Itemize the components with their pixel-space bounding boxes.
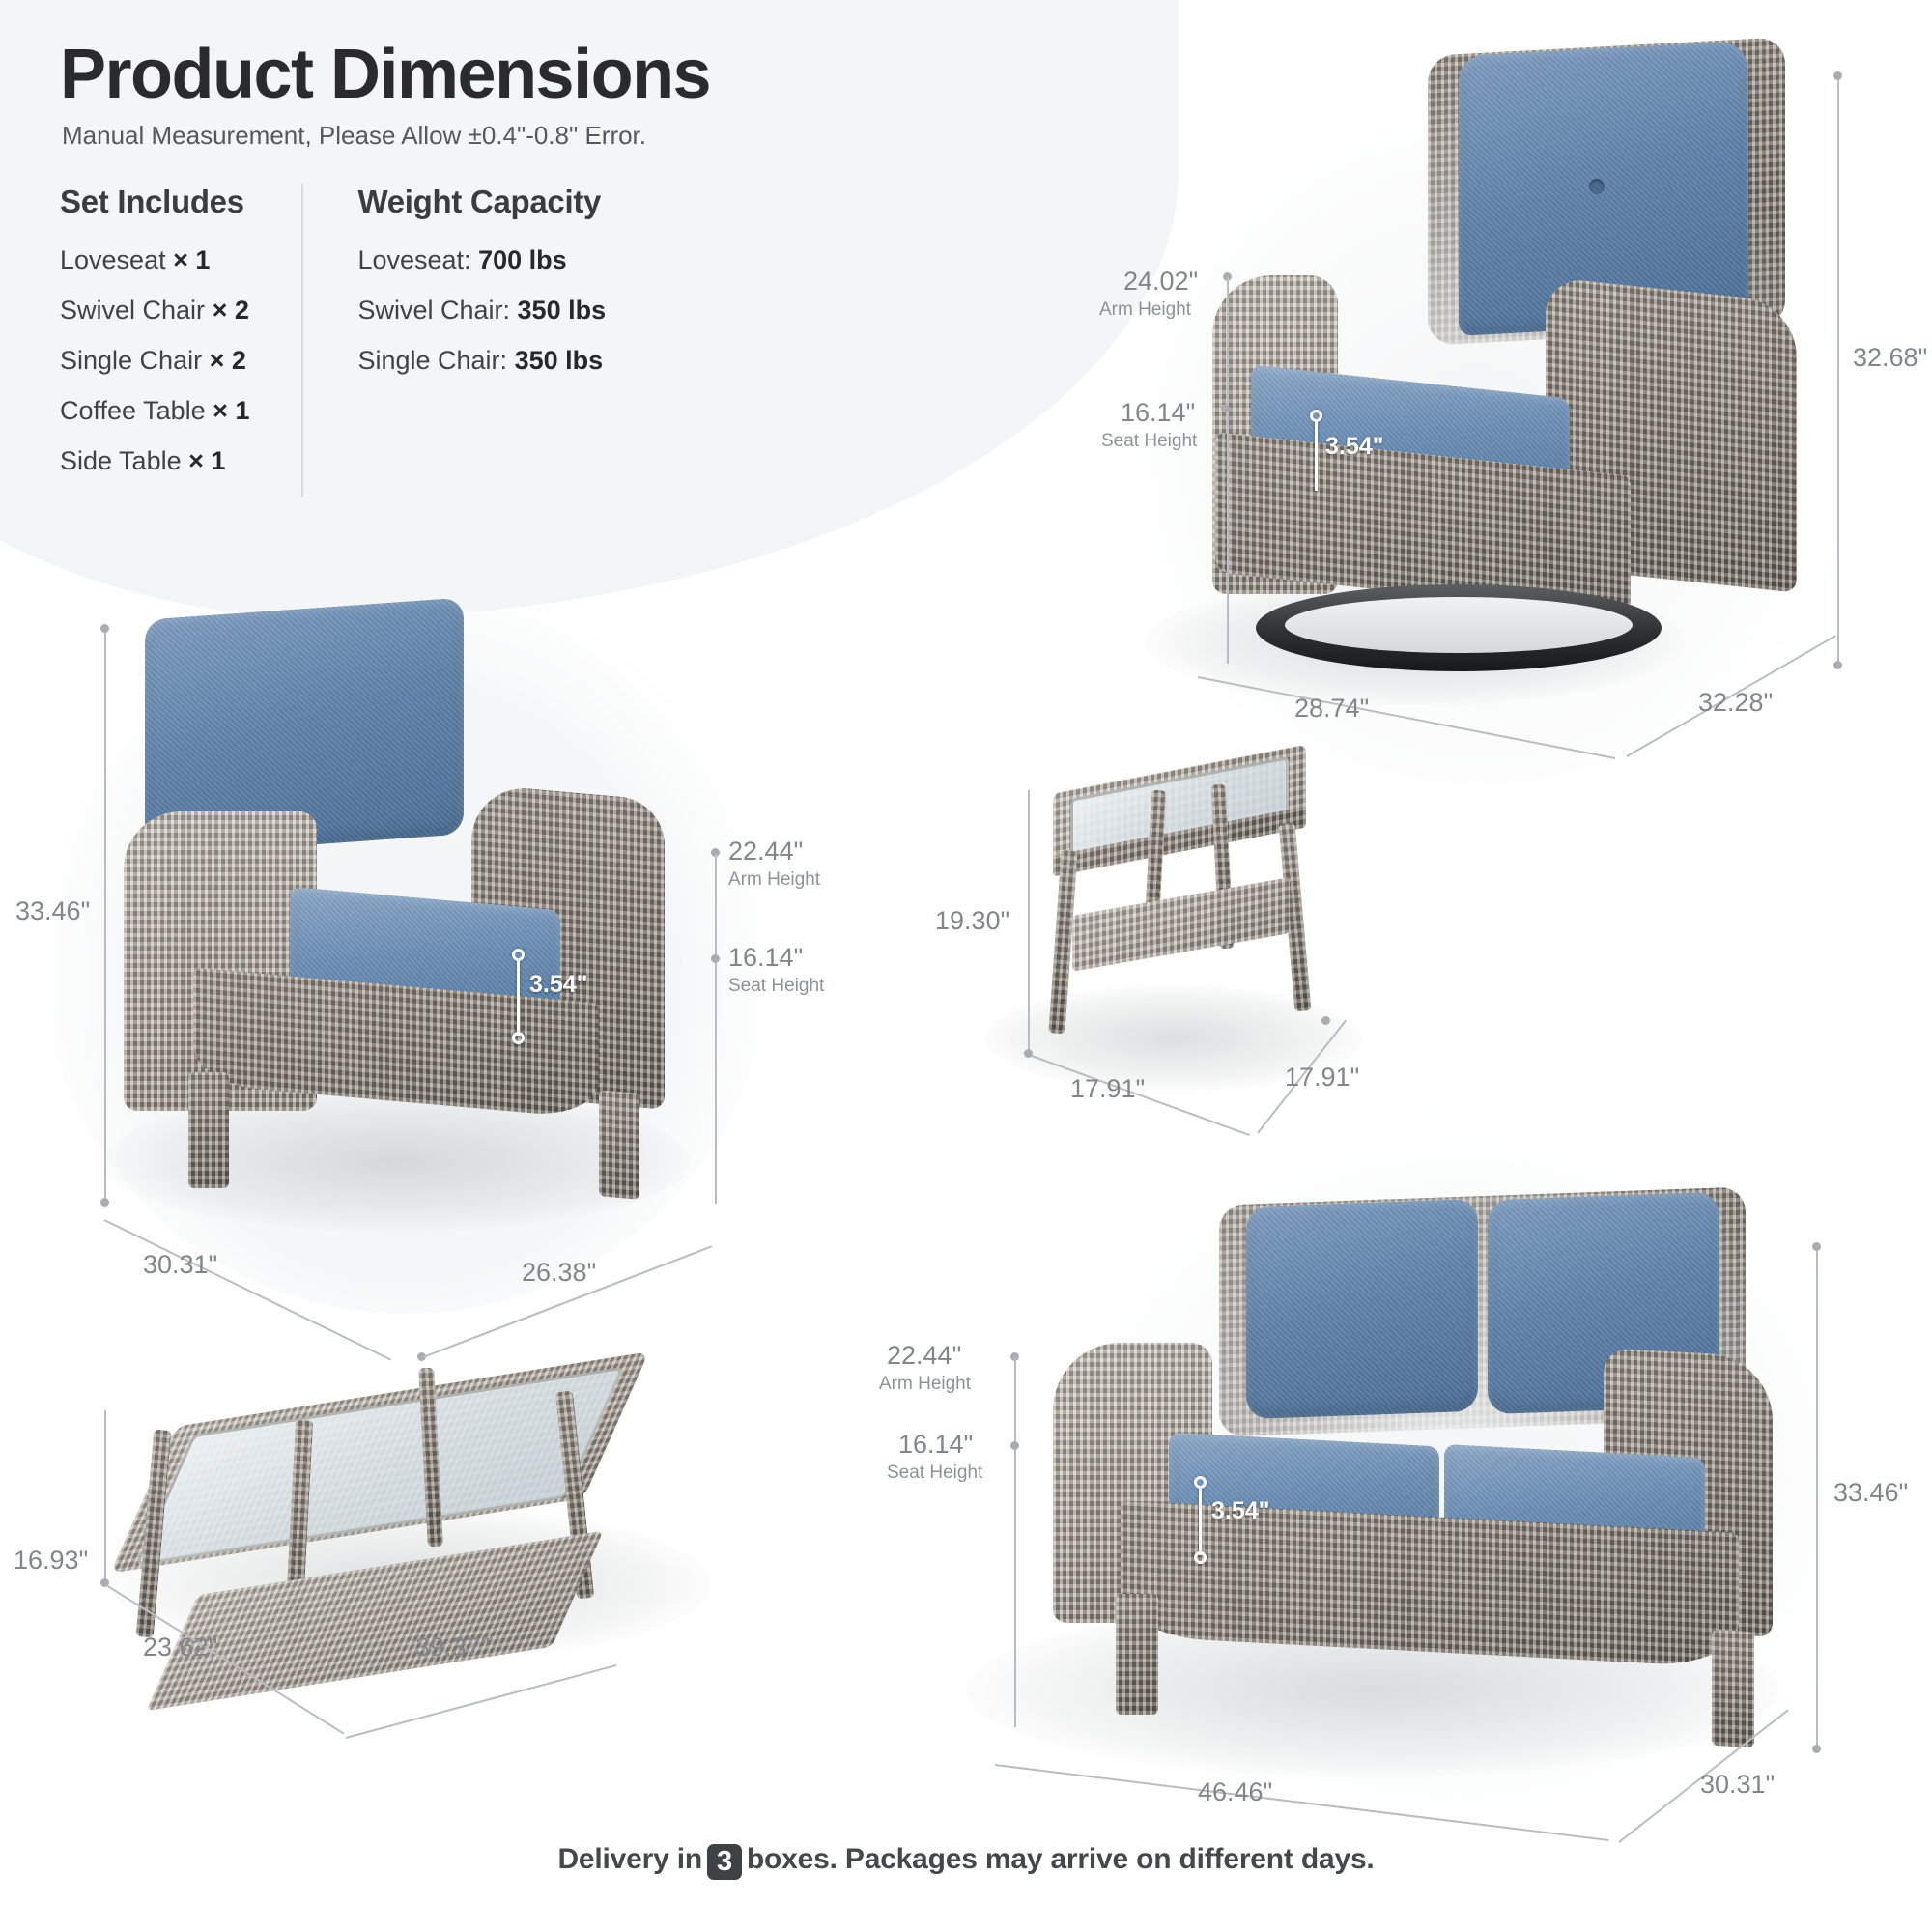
capacity-item-value: 350 lbs: [515, 346, 604, 375]
single-cushion-cap-bottom: [512, 1032, 525, 1044]
set-item-sep: ×: [213, 396, 228, 425]
swivel-cushion-line: [1315, 421, 1318, 491]
list-item: Swivel Chair × 2: [60, 296, 249, 326]
swivel-seat-height-dot: [1221, 404, 1230, 412]
weight-capacity-heading: Weight Capacity: [357, 184, 606, 220]
single-overall-height-dot-bottom: [100, 1198, 109, 1207]
set-item-sep: ×: [213, 296, 228, 325]
single-front-right-leg: [599, 1090, 639, 1200]
single-seat-height-dot: [711, 954, 720, 963]
list-item: Single Chair × 2: [60, 346, 249, 376]
set-item-name: Coffee Table: [60, 396, 206, 425]
side-table-width-value: 17.91": [1070, 1074, 1145, 1104]
single-cushion-line: [517, 960, 520, 1036]
single-overall-height-value: 33.46": [15, 896, 90, 926]
single-cushion-thickness: 3.54": [529, 971, 588, 999]
side-table-corner-dot: [1321, 1016, 1330, 1025]
coffee-table-height-value: 16.93": [14, 1546, 88, 1576]
capacity-item-name: Loveseat:: [357, 245, 470, 274]
single-arm-height-line: [715, 854, 717, 1204]
loveseat-overall-height-line: [1816, 1246, 1818, 1748]
set-item-sep: ×: [210, 346, 225, 375]
loveseat-front-left-leg: [1116, 1594, 1158, 1715]
swivel-overall-height-line: [1837, 75, 1839, 665]
list-item: Side Table × 1: [60, 446, 249, 476]
single-seat-height-label: Seat Height: [728, 976, 824, 997]
single-width-value: 26.38": [522, 1258, 596, 1288]
set-includes-column: Set Includes Loveseat × 1 Swivel Chair ×…: [60, 184, 301, 497]
swivel-cushion-tuft: [1589, 179, 1605, 194]
coffee-table-depth-value: 23.62": [143, 1633, 217, 1662]
page-title: Product Dimensions: [60, 35, 710, 114]
loveseat-back-cushion-left: [1246, 1199, 1478, 1419]
list-item: Swivel Chair: 350 lbs: [357, 296, 606, 326]
side-table-height-value: 19.30": [935, 906, 1009, 936]
set-item-qty: 1: [211, 446, 225, 475]
delivery-prefix: Delivery in: [557, 1843, 702, 1875]
swivel-arm-height-label: Arm Height: [1099, 299, 1191, 321]
single-depth-line: [104, 1219, 391, 1360]
capacity-item-name: Single Chair:: [357, 346, 507, 375]
list-item: Coffee Table × 1: [60, 396, 249, 426]
set-item-sep: ×: [188, 446, 204, 475]
loveseat-cushion-cap-bottom: [1194, 1551, 1207, 1564]
single-seat-height-value: 16.14": [728, 943, 803, 973]
loveseat-seat-height-label: Seat Height: [887, 1463, 982, 1484]
loveseat-arm-height-value: 22.44": [887, 1341, 961, 1371]
capacity-item-name: Swivel Chair:: [357, 296, 510, 325]
single-overall-height-line: [104, 628, 106, 1203]
swivel-cushion-thickness: 3.54": [1325, 433, 1384, 461]
side-table-height-line: [1028, 790, 1030, 1053]
set-includes-heading: Set Includes: [60, 184, 249, 220]
list-item: Loveseat × 1: [60, 245, 249, 275]
swivel-depth-value: 32.28": [1698, 688, 1773, 718]
delivery-box-count-badge: 3: [707, 1844, 742, 1880]
set-item-name: Swivel Chair: [60, 296, 205, 325]
list-item: Loveseat: 700 lbs: [357, 245, 606, 275]
loveseat-front-right-leg: [1712, 1630, 1754, 1747]
set-item-qty: 1: [235, 396, 249, 425]
delivery-note: Delivery in3boxes. Packages may arrive o…: [0, 1843, 1932, 1880]
page-subtitle: Manual Measurement, Please Allow ±0.4"-0…: [62, 121, 646, 151]
loveseat-arm-height-line: [1014, 1358, 1016, 1727]
side-table-depth-value: 17.91": [1285, 1063, 1359, 1093]
set-item-qty: 2: [232, 346, 246, 375]
swivel-overall-height-value: 32.68": [1853, 343, 1927, 373]
single-front-left-leg: [188, 1072, 229, 1188]
single-arm-height-label: Arm Height: [728, 869, 820, 891]
capacity-item-value: 700 lbs: [478, 245, 567, 274]
swivel-seat-height-label: Seat Height: [1101, 431, 1197, 452]
loveseat-seat-height-value: 16.14": [898, 1430, 973, 1460]
loveseat-depth-value: 30.31": [1700, 1770, 1775, 1800]
capacity-item-value: 350 lbs: [518, 296, 607, 325]
loveseat-cushion-thickness: 3.54": [1211, 1497, 1270, 1525]
delivery-suffix: boxes. Packages may arrive on different …: [747, 1843, 1375, 1875]
set-item-name: Single Chair: [60, 346, 202, 375]
coffee-table-width-line: [346, 1664, 617, 1739]
side-table-lower-shelf: [1072, 877, 1290, 972]
loveseat-overall-height-value: 33.46": [1833, 1478, 1908, 1508]
swivel-width-value: 28.74": [1294, 694, 1369, 724]
coffee-table-width-value: 39.37": [415, 1633, 490, 1662]
weight-capacity-column: Weight Capacity Loveseat: 700 lbs Swivel…: [301, 184, 658, 497]
info-columns: Set Includes Loveseat × 1 Swivel Chair ×…: [60, 184, 658, 497]
set-item-name: Side Table: [60, 446, 182, 475]
set-item-qty: 2: [235, 296, 249, 325]
swivel-overall-height-dot-bottom: [1833, 661, 1842, 669]
loveseat-overall-height-dot-bottom: [1812, 1745, 1821, 1753]
list-item: Single Chair: 350 lbs: [357, 346, 606, 376]
swivel-arm-height-line: [1227, 277, 1229, 664]
loveseat-seat-height-dot: [1010, 1441, 1019, 1450]
set-item-sep: ×: [173, 245, 188, 274]
set-item-qty: 1: [195, 245, 210, 274]
set-item-name: Loveseat: [60, 245, 166, 274]
swivel-ring-inner: [1285, 597, 1633, 653]
single-arm-height-value: 22.44": [728, 837, 803, 867]
swivel-overall-height-dot-top: [1833, 71, 1842, 80]
single-depth-value: 30.31": [143, 1250, 217, 1280]
swivel-seat-height-value: 16.14": [1121, 398, 1195, 428]
loveseat-cushion-line: [1199, 1488, 1202, 1555]
single-overall-height-dot-top: [100, 624, 109, 633]
loveseat-overall-height-dot-top: [1812, 1242, 1821, 1251]
infographic-canvas: Product Dimensions Manual Measurement, P…: [0, 0, 1932, 1932]
swivel-arm-height-value: 24.02": [1123, 267, 1198, 297]
coffee-table-height-line: [104, 1410, 106, 1582]
loveseat-width-value: 46.46": [1198, 1777, 1272, 1807]
loveseat-arm-height-label: Arm Height: [879, 1374, 971, 1395]
